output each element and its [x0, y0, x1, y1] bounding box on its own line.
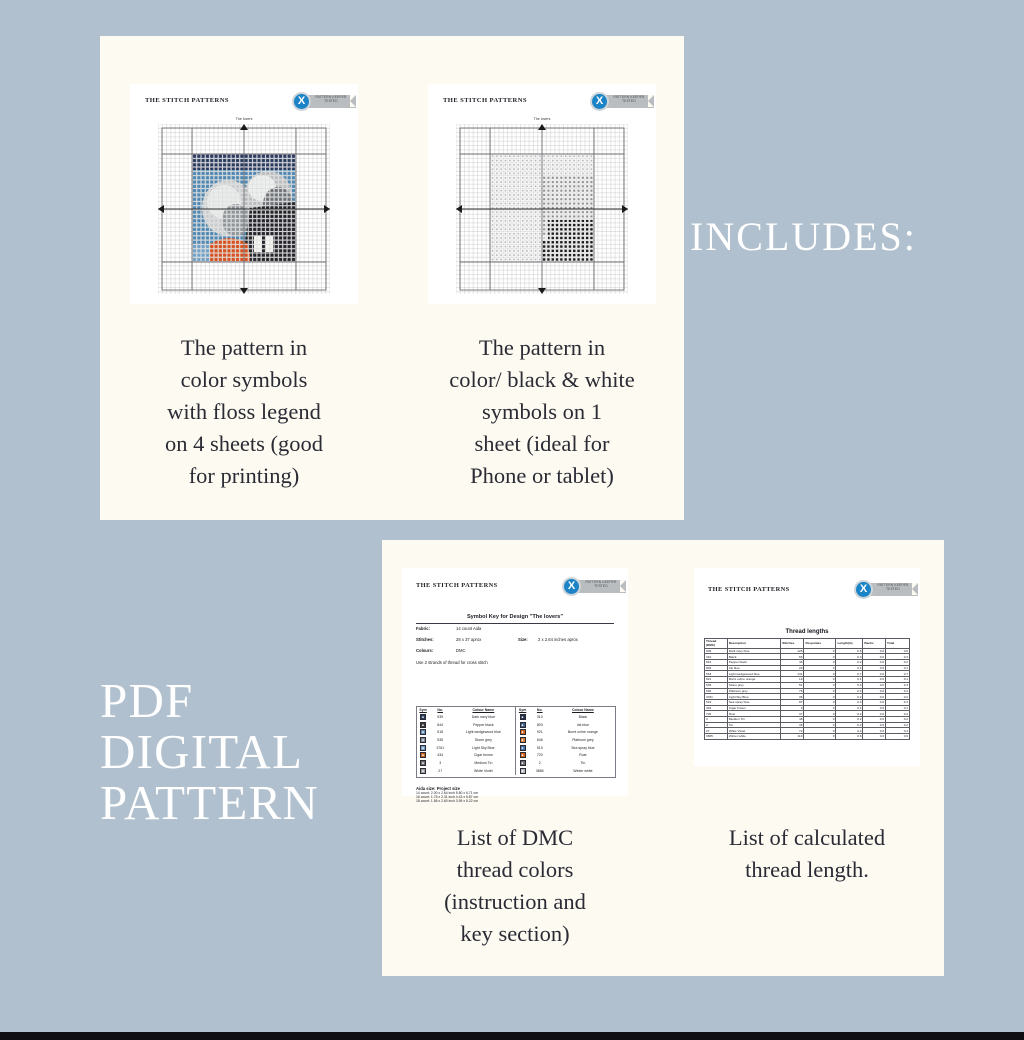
pattern-keeper-badge-2: PATTERN KEEPER TESTED X: [590, 92, 662, 111]
symbol-key-table: Sym No. Colour Name Sym No. Colour Name …: [417, 707, 615, 775]
pattern-keeper-badge-3: PATTERN KEEPER TESTED X: [562, 577, 634, 596]
symbol-key-body: Symbol Key for Design "The lovers" Fabri…: [412, 610, 618, 669]
colours-label: Colours:: [416, 648, 433, 653]
badge-disc: X: [292, 92, 311, 111]
bw-chart-svg: [456, 124, 628, 294]
table-row: ■3Medium Tin■2Tin: [417, 759, 615, 767]
bottom-edge-bar: [0, 1032, 1024, 1040]
dmc-key-sheet: THE STITCH PATTERNS PATTERN KEEPER TESTE…: [402, 568, 628, 796]
badge-disc: X: [562, 577, 581, 596]
table-row: ■844Pepper black■803Ink blue: [417, 721, 615, 729]
table-row: 3865Winter white11000.60.00.6: [705, 734, 910, 740]
symbol-key-table-frame: Sym No. Colour Name Sym No. Colour Name …: [416, 706, 616, 778]
aida-size-block: Aida size: Project size 14 count: 2.00 x…: [416, 786, 478, 803]
table-row: ■434Cigar brown■720Rust: [417, 752, 615, 760]
badge-disc: X: [854, 580, 873, 599]
size-label: Size:: [518, 637, 528, 642]
caption-dmc-key: List of DMC thread colors (instruction a…: [390, 822, 640, 950]
badge-x-icon: X: [592, 94, 607, 109]
caption-color-symbol: The pattern in color symbols with floss …: [122, 332, 366, 492]
chart-name-label: The lovers: [130, 117, 358, 121]
col-thread: Thread (DMC): [705, 639, 728, 649]
color-symbol-sheet: THE STITCH PATTERNS PATTERN KEEPER TESTE…: [130, 84, 358, 304]
badge-x-icon: X: [856, 582, 871, 597]
thread-lengths-title: Thread lengths: [694, 629, 920, 635]
color-chart-svg: [158, 124, 330, 294]
table-row: ■27White Violet■3865Winter white: [417, 767, 615, 775]
badge-disc: X: [590, 92, 609, 111]
table-row: ■535Stone grey■646Platinum grey: [417, 736, 615, 744]
col-total: Total: [886, 639, 910, 649]
col-pespuntes: Pespuntes: [804, 639, 836, 649]
stitches-label: Stitches:: [416, 637, 434, 642]
key-divider: [416, 623, 614, 624]
chart-name-label-2: The lovers: [428, 117, 656, 121]
thread-header-row: Thread (DMC) Description Stitches Pespun…: [705, 639, 910, 649]
col-stitches: Stitches: [781, 639, 804, 649]
badge-ribbon-text: PATTERN KEEPER TESTED: [578, 580, 624, 589]
sheet-brand-title: THE STITCH PATTERNS: [145, 97, 229, 104]
caption-bw-symbol: The pattern in color/ black & white symb…: [416, 332, 668, 492]
thread-rows: 939Dark navy blue12500.60.00.6 310Black6…: [705, 648, 910, 739]
fabric-value: 14 count Aida: [456, 626, 481, 631]
pattern-keeper-badge: PATTERN KEEPER TESTED X: [292, 92, 364, 111]
sheet-brand-title-2: THE STITCH PATTERNS: [443, 97, 527, 104]
caption-thread-length: List of calculated thread length.: [672, 822, 942, 886]
table-row: ■3761Light Sky Blue■519Sea spray blue: [417, 744, 615, 752]
symbol-key-rows: ■939Dark navy blue■310Black ■844Pepper b…: [417, 713, 615, 775]
badge-ribbon-text: PATTERN KEEPER TESTED: [308, 95, 354, 104]
badge-ribbon-text: PATTERN KEEPER TESTED: [870, 583, 916, 592]
col-length: Length(m): [836, 639, 863, 649]
strand-note: Use 2 strands of thread for cross stitch: [416, 660, 618, 665]
fabric-label: Fabric:: [416, 626, 430, 631]
includes-heading: INCLUDES:: [690, 216, 1020, 258]
table-row: ■518Light wedgewood blue■921Burnt ochre …: [417, 729, 615, 737]
top-content-panel: THE STITCH PATTERNS PATTERN KEEPER TESTE…: [100, 36, 684, 520]
poster-canvas: THE STITCH PATTERNS PATTERN KEEPER TESTE…: [0, 0, 1024, 1040]
col-backs: Backs: [863, 639, 886, 649]
pdf-digital-pattern-heading: PDF DIGITAL PATTERN: [100, 676, 400, 829]
bw-symbol-sheet: THE STITCH PATTERNS PATTERN KEEPER TESTE…: [428, 84, 656, 304]
thread-length-sheet: THE STITCH PATTERNS PATTERN KEEPER TESTE…: [694, 568, 920, 766]
aida-row: 18 count: 1.56 x 2.60 inch 3.95 x 5.22 c…: [416, 799, 478, 803]
color-chart-grid: [158, 124, 330, 294]
colours-value: DMC: [456, 648, 466, 653]
sheet-brand-title-3: THE STITCH PATTERNS: [416, 582, 498, 589]
stitches-value: 28 x 37 aprox: [456, 637, 481, 642]
badge-ribbon-text: PATTERN KEEPER TESTED: [606, 95, 652, 104]
sheet-brand-title-4: THE STITCH PATTERNS: [708, 586, 790, 593]
badge-x-icon: X: [294, 94, 309, 109]
badge-x-icon: X: [564, 579, 579, 594]
pattern-keeper-badge-4: PATTERN KEEPER TESTED X: [854, 580, 926, 599]
size-value: 2 x 2.64 inches aprox: [538, 637, 578, 642]
thread-lengths-table: Thread (DMC) Description Stitches Pespun…: [704, 638, 910, 740]
col-description: Description: [727, 639, 780, 649]
table-row: ■939Dark navy blue■310Black: [417, 713, 615, 721]
bw-chart-grid: [456, 124, 628, 294]
bottom-content-panel: THE STITCH PATTERNS PATTERN KEEPER TESTE…: [382, 540, 944, 976]
